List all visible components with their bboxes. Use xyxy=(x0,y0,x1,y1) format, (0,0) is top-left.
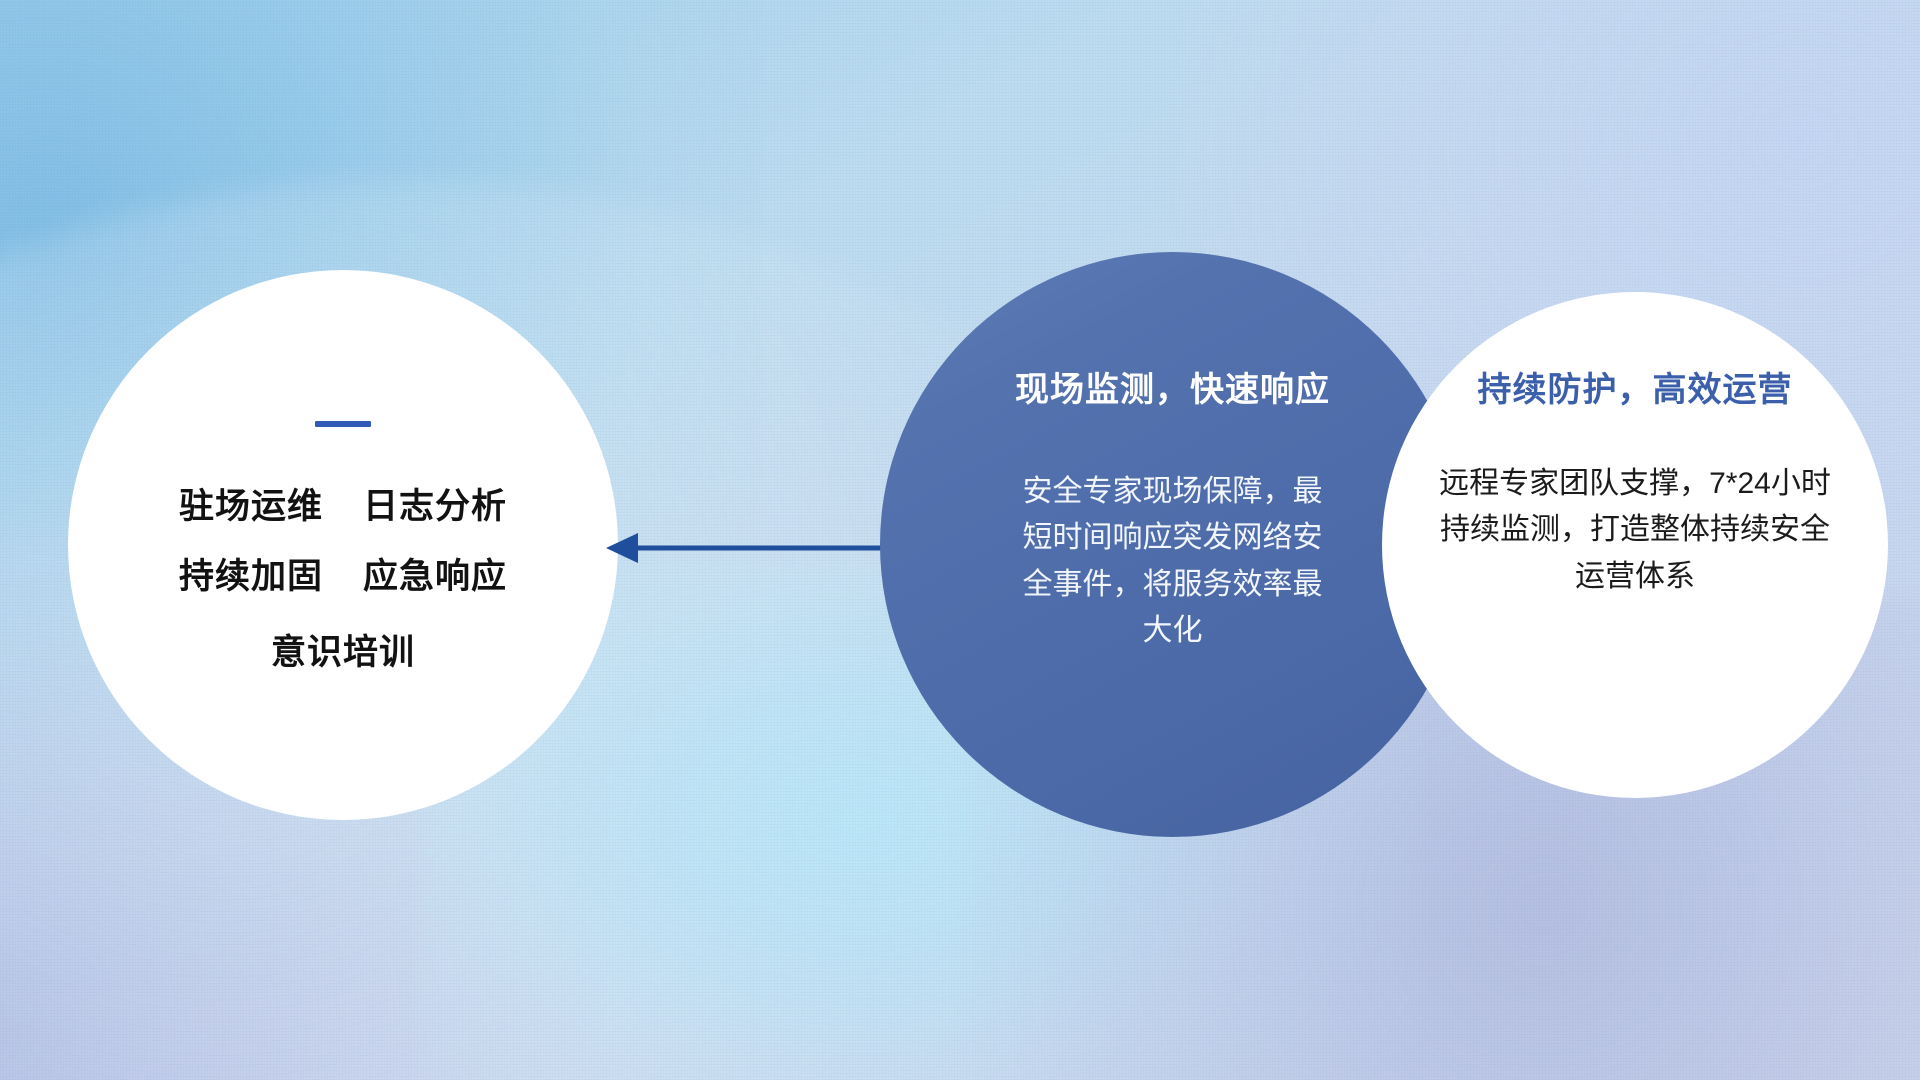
accent-dash-divider xyxy=(315,421,371,427)
infographic-canvas: 驻场运维 日志分析 持续加固 应急响应 意识培训 现场监测，快速响应 安全专家现… xyxy=(0,0,1920,1080)
continuous-protection-content: 持续防护，高效运营 远程专家团队支撑，7*24小时持续监测，打造整体持续安全运营… xyxy=(1382,292,1888,798)
continuous-protection-description: 远程专家团队支撑，7*24小时持续监测，打造整体持续安全运营体系 xyxy=(1435,461,1835,601)
keyword-row: 驻场运维 日志分析 xyxy=(179,485,507,529)
keyword-chip: 持续加固 xyxy=(179,555,323,599)
capability-keywords-content: 驻场运维 日志分析 持续加固 应急响应 意识培训 xyxy=(68,270,618,820)
capability-keywords-circle: 驻场运维 日志分析 持续加固 应急响应 意识培训 xyxy=(68,270,618,820)
flow-arrow-left-icon xyxy=(600,516,910,580)
keyword-chip: 日志分析 xyxy=(363,485,507,529)
arrow-head xyxy=(606,533,638,563)
continuous-protection-title: 持续防护，高效运营 xyxy=(1478,370,1793,411)
onsite-monitoring-description: 安全专家现场保障，最短时间响应突发网络安全事件，将服务效率最大化 xyxy=(1013,469,1333,655)
keyword-chip: 驻场运维 xyxy=(179,485,323,529)
keyword-row: 持续加固 应急响应 xyxy=(179,555,507,599)
keyword-row: 意识培训 xyxy=(271,631,415,675)
keyword-chip: 应急响应 xyxy=(363,555,507,599)
continuous-protection-circle: 持续防护，高效运营 远程专家团队支撑，7*24小时持续监测，打造整体持续安全运营… xyxy=(1382,292,1888,798)
keyword-chip: 意识培训 xyxy=(271,631,415,675)
onsite-monitoring-circle: 现场监测，快速响应 安全专家现场保障，最短时间响应突发网络安全事件，将服务效率最… xyxy=(880,252,1465,837)
onsite-monitoring-content: 现场监测，快速响应 安全专家现场保障，最短时间响应突发网络安全事件，将服务效率最… xyxy=(880,252,1465,837)
onsite-monitoring-title: 现场监测，快速响应 xyxy=(1015,370,1330,411)
